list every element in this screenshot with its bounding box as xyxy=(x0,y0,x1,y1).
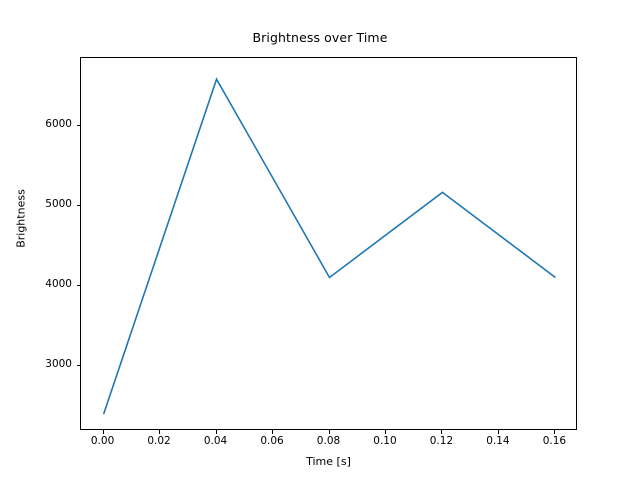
x-axis-label: Time [s] xyxy=(80,455,577,468)
x-tick-mark xyxy=(216,430,217,434)
x-tick-mark xyxy=(441,430,442,434)
y-axis-label: Brightness xyxy=(15,159,28,279)
x-tick-label: 0.08 xyxy=(304,435,354,447)
x-tick-mark xyxy=(385,430,386,434)
x-tick-mark xyxy=(554,430,555,434)
x-tick-mark xyxy=(329,430,330,434)
chart-title: Brightness over Time xyxy=(0,30,640,45)
x-tick-mark xyxy=(498,430,499,434)
chart-figure: Brightness over Time 3000400050006000 0.… xyxy=(0,0,640,480)
x-tick-label: 0.14 xyxy=(473,435,523,447)
data-series-svg xyxy=(81,58,578,431)
x-tick-label: 0.16 xyxy=(529,435,579,447)
x-tick-label: 0.06 xyxy=(247,435,297,447)
line-series-brightness xyxy=(104,79,556,414)
x-tick-label: 0.04 xyxy=(191,435,241,447)
y-tick-label: 4000 xyxy=(28,278,72,290)
x-tick-label: 0.02 xyxy=(134,435,184,447)
plot-area xyxy=(80,57,577,430)
x-tick-label: 0.00 xyxy=(78,435,128,447)
x-tick-label: 0.10 xyxy=(360,435,410,447)
x-tick-mark xyxy=(103,430,104,434)
x-tick-mark xyxy=(159,430,160,434)
y-tick-label: 3000 xyxy=(28,358,72,370)
y-tick-label: 6000 xyxy=(28,118,72,130)
y-tick-label: 5000 xyxy=(28,198,72,210)
x-tick-label: 0.12 xyxy=(416,435,466,447)
x-tick-mark xyxy=(272,430,273,434)
